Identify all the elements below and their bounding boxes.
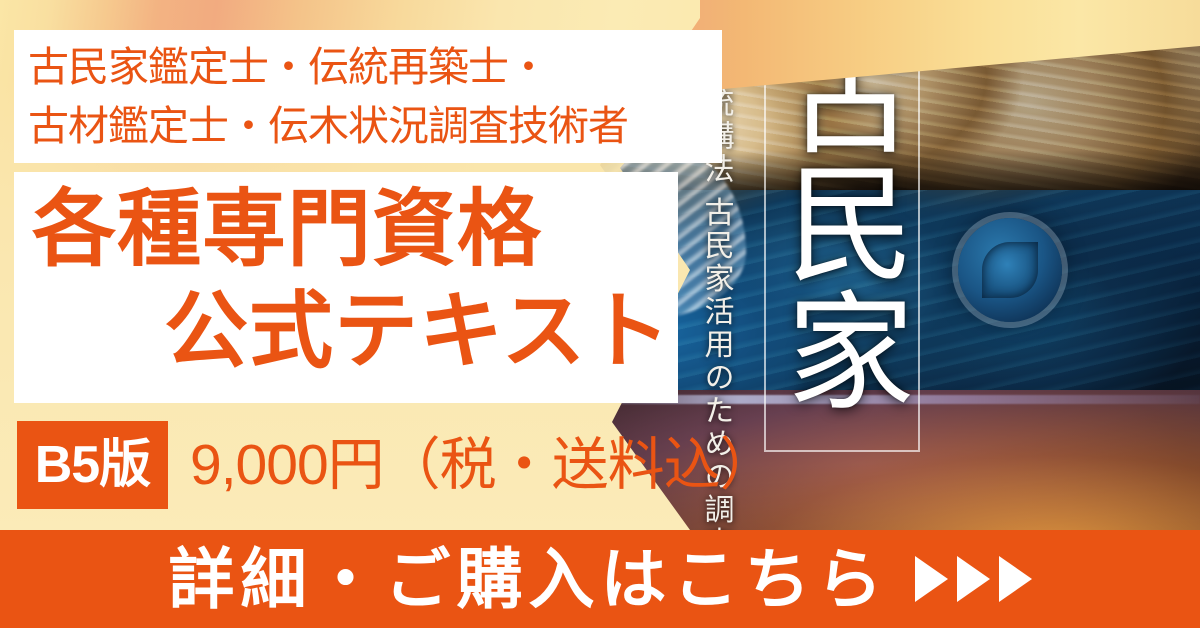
cta-label: 詳細・ご購入はこちら [169, 546, 889, 612]
triangle-right-icon [999, 556, 1032, 602]
price-amount: 9,000円（税・送料込） [190, 421, 776, 509]
headline-line-2: 公式テキスト [14, 280, 678, 382]
price-row: B5版 9,000円（税・送料込） [17, 421, 776, 509]
cta-arrow-group [915, 556, 1032, 602]
headline-line-1: 各種専門資格 [14, 178, 678, 280]
cta-bar[interactable]: 詳細・ご購入はこちら [0, 530, 1200, 628]
certification-line-1: 古民家鑑定士・伝統再築士・ [28, 38, 722, 96]
format-badge-b5: B5版 [17, 421, 168, 509]
triangle-right-icon [957, 556, 990, 602]
promo-banner: 古民家 伝統構法 古民家活用のための調査と再生の 古民家鑑定士・伝統再築士・ 古… [0, 0, 1200, 628]
certification-line-2: 古材鑑定士・伝木状況調査技術者 [28, 97, 722, 155]
certifications-panel: 古民家鑑定士・伝統再築士・ 古材鑑定士・伝木状況調査技術者 [14, 30, 722, 163]
headline-panel: 各種専門資格 公式テキスト [14, 172, 678, 403]
triangle-right-icon [915, 556, 948, 602]
